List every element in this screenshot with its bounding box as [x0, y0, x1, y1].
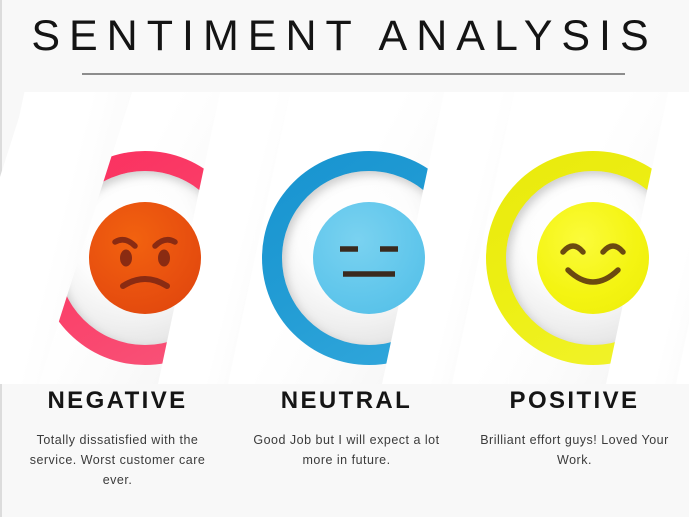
sentiment-analysis-infographic: SENTIMENT ANALYSIS — [0, 0, 689, 517]
smiling-face-icon — [537, 202, 649, 314]
angry-face-icon — [89, 202, 201, 314]
title-divider — [82, 73, 625, 75]
column-negative: NEGATIVE Totally dissatisfied with the s… — [3, 386, 232, 490]
column-neutral: NEUTRAL Good Job but I will expect a lot… — [232, 386, 461, 470]
sentiment-badge-negative[interactable] — [38, 151, 252, 365]
column-title-neutral: NEUTRAL — [232, 386, 461, 416]
sentiment-badge-positive[interactable] — [486, 151, 689, 365]
column-positive: POSITIVE Brilliant effort guys! Loved Yo… — [460, 386, 689, 470]
column-description-neutral: Good Job but I will expect a lot more in… — [244, 430, 449, 470]
column-description-positive: Brilliant effort guys! Loved Your Work. — [475, 430, 675, 470]
page-title: SENTIMENT ANALYSIS — [0, 8, 689, 64]
header: SENTIMENT ANALYSIS — [0, 0, 689, 92]
column-description-negative: Totally dissatisfied with the service. W… — [15, 430, 220, 490]
caption-group: NEGATIVE Totally dissatisfied with the s… — [0, 386, 689, 517]
column-title-positive: POSITIVE — [460, 386, 689, 416]
neutral-face-icon — [313, 202, 425, 314]
column-title-negative: NEGATIVE — [3, 386, 232, 416]
sentiment-badge-neutral[interactable] — [262, 151, 476, 365]
